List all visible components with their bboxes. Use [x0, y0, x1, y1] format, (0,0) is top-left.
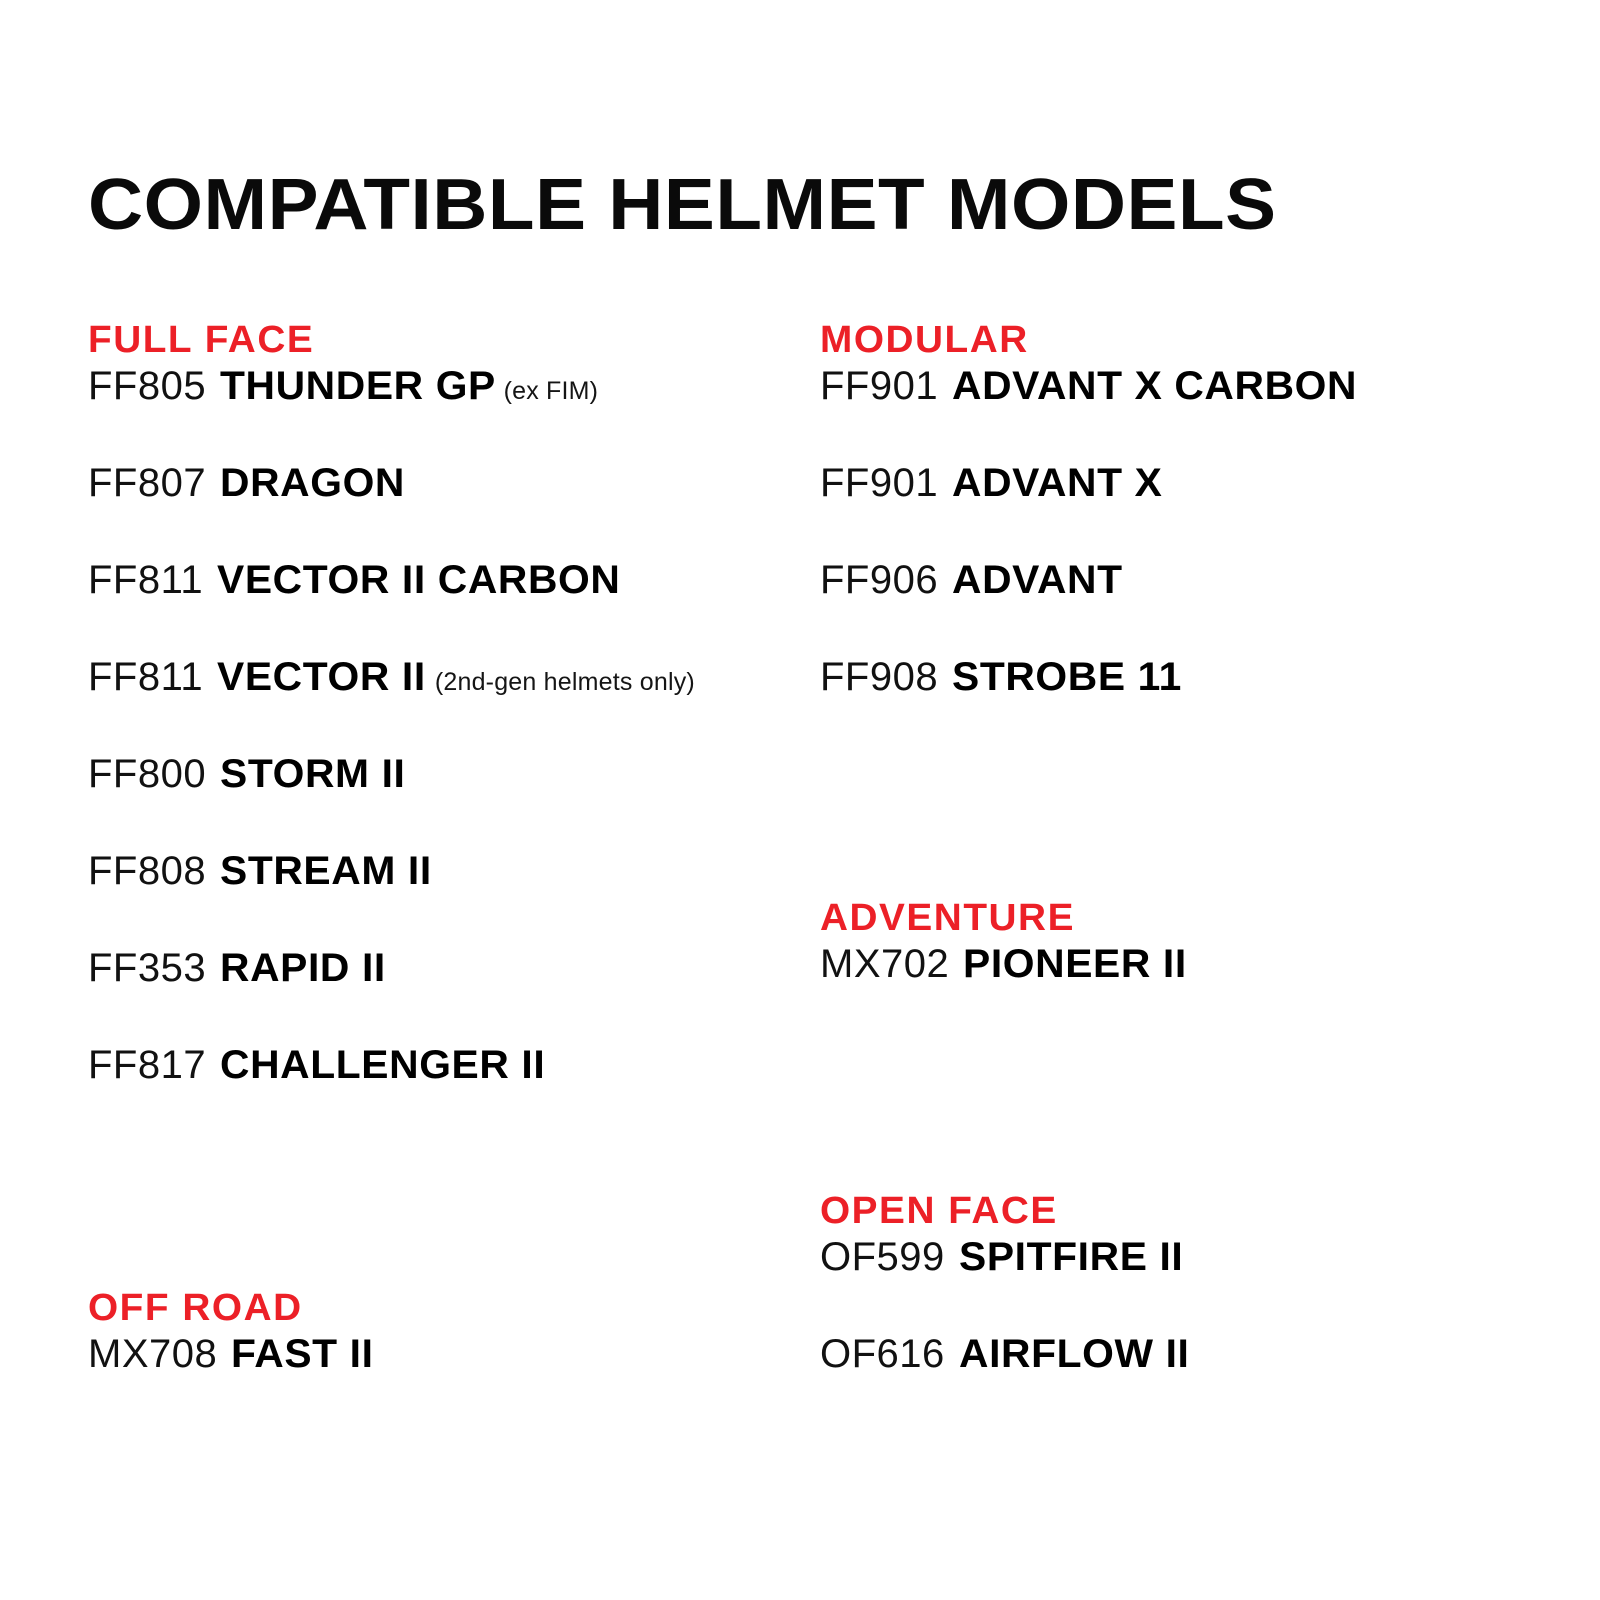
model-note: (ex FIM): [504, 376, 599, 406]
model-code: FF811: [88, 556, 203, 604]
model-name: AIRFLOW II: [959, 1330, 1189, 1378]
section-off-road: OFF ROADMX708FAST II: [88, 1286, 828, 1427]
model-name: THUNDER GP: [220, 362, 496, 410]
model-row[interactable]: FF908STROBE 11: [820, 653, 1560, 750]
model-code: FF807: [88, 459, 206, 507]
model-code: MX708: [88, 1330, 217, 1378]
model-list-full-face: FF805THUNDER GP(ex FIM)FF807DRAGONFF811V…: [88, 362, 828, 1138]
model-code: MX702: [820, 940, 949, 988]
model-name: VECTOR II: [217, 653, 426, 701]
model-row[interactable]: FF353RAPID II: [88, 944, 828, 1041]
model-name: ADVANT: [952, 556, 1123, 604]
model-name: PIONEER II: [963, 940, 1187, 988]
left-column: FULL FACEFF805THUNDER GP(ex FIM)FF807DRA…: [88, 0, 828, 1600]
model-row[interactable]: OF616AIRFLOW II: [820, 1330, 1560, 1427]
model-row[interactable]: OF599SPITFIRE II: [820, 1233, 1560, 1330]
model-code: FF808: [88, 847, 206, 895]
section-open-face: OPEN FACEOF599SPITFIRE IIOF616AIRFLOW II: [820, 1189, 1560, 1427]
section-full-face: FULL FACEFF805THUNDER GP(ex FIM)FF807DRA…: [88, 318, 828, 1138]
section-modular: MODULARFF901ADVANT X CARBONFF901ADVANT X…: [820, 318, 1560, 750]
model-list-adventure: MX702PIONEER II: [820, 940, 1560, 1037]
model-row[interactable]: FF807DRAGON: [88, 459, 828, 556]
model-code: FF901: [820, 362, 938, 410]
model-note: (2nd-gen helmets only): [435, 667, 695, 697]
model-name: FAST II: [231, 1330, 374, 1378]
model-code: FF901: [820, 459, 938, 507]
model-name: SPITFIRE II: [959, 1233, 1183, 1281]
model-code: OF599: [820, 1233, 945, 1281]
model-list-off-road: MX708FAST II: [88, 1330, 828, 1427]
model-name: RAPID II: [220, 944, 386, 992]
model-row[interactable]: FF817CHALLENGER II: [88, 1041, 828, 1138]
model-name: STORM II: [220, 750, 405, 798]
model-row[interactable]: MX708FAST II: [88, 1330, 828, 1427]
model-name: VECTOR II CARBON: [217, 556, 620, 604]
model-name: ADVANT X CARBON: [952, 362, 1357, 410]
model-code: FF805: [88, 362, 206, 410]
model-name: STREAM II: [220, 847, 432, 895]
model-name: STROBE 11: [952, 653, 1182, 701]
model-name: DRAGON: [220, 459, 405, 507]
model-code: FF811: [88, 653, 203, 701]
model-code: OF616: [820, 1330, 945, 1378]
model-row[interactable]: FF906ADVANT: [820, 556, 1560, 653]
model-name: CHALLENGER II: [220, 1041, 545, 1089]
model-row[interactable]: FF901ADVANT X CARBON: [820, 362, 1560, 459]
model-row[interactable]: FF808STREAM II: [88, 847, 828, 944]
right-column: MODULARFF901ADVANT X CARBONFF901ADVANT X…: [820, 0, 1560, 1600]
section-heading-modular: MODULAR: [820, 318, 1575, 362]
section-heading-open-face: OPEN FACE: [820, 1189, 1575, 1233]
section-heading-full-face: FULL FACE: [88, 318, 843, 362]
model-row[interactable]: FF811VECTOR II CARBON: [88, 556, 828, 653]
model-list-open-face: OF599SPITFIRE IIOF616AIRFLOW II: [820, 1233, 1560, 1427]
model-row[interactable]: FF901ADVANT X: [820, 459, 1560, 556]
model-list-modular: FF901ADVANT X CARBONFF901ADVANT XFF906AD…: [820, 362, 1560, 750]
model-code: FF906: [820, 556, 938, 604]
model-code: FF353: [88, 944, 206, 992]
compatibility-sheet: COMPATIBLE HELMET MODELS FULL FACEFF805T…: [0, 0, 1600, 1600]
model-name: ADVANT X: [952, 459, 1162, 507]
section-heading-adventure: ADVENTURE: [820, 896, 1575, 940]
section-heading-off-road: OFF ROAD: [88, 1286, 843, 1330]
model-row[interactable]: FF811VECTOR II(2nd-gen helmets only): [88, 653, 828, 750]
model-row[interactable]: FF800STORM II: [88, 750, 828, 847]
model-row[interactable]: MX702PIONEER II: [820, 940, 1560, 1037]
model-code: FF908: [820, 653, 938, 701]
model-code: FF800: [88, 750, 206, 798]
section-adventure: ADVENTUREMX702PIONEER II: [820, 896, 1560, 1037]
model-code: FF817: [88, 1041, 206, 1089]
model-row[interactable]: FF805THUNDER GP(ex FIM): [88, 362, 828, 459]
